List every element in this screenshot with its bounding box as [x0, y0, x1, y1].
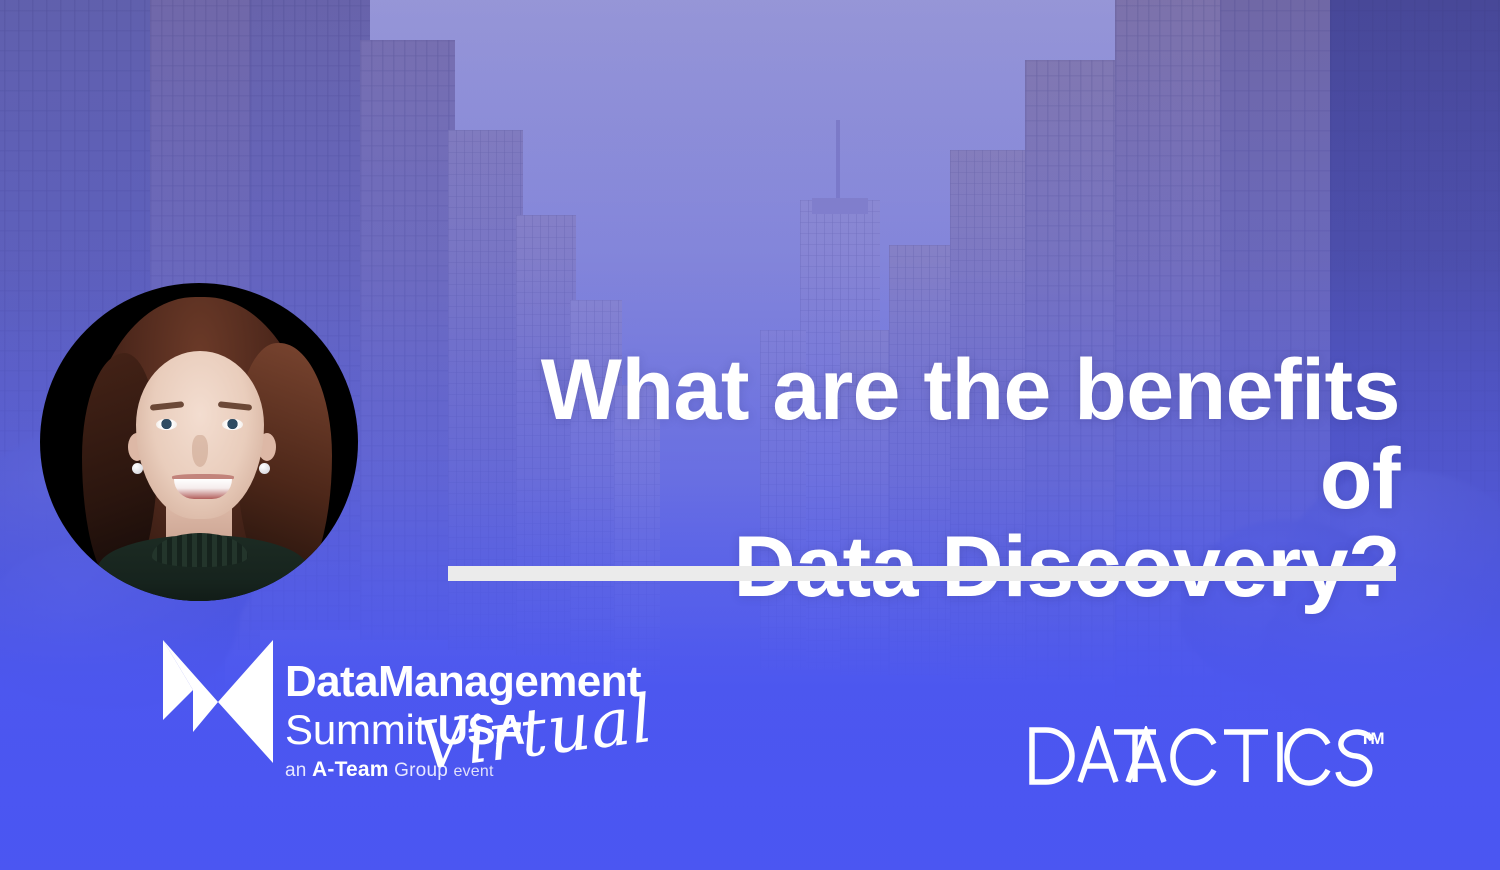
eye-right: [222, 419, 243, 430]
avatar-portrait: [40, 283, 358, 601]
trademark-symbol: TM: [1360, 729, 1385, 748]
nose: [192, 435, 208, 467]
organizer-name: A-Team: [312, 758, 389, 781]
divider: [448, 566, 1396, 581]
headline-line-1: What are the benefits of: [440, 346, 1400, 523]
datactics-logo: TM: [1028, 726, 1388, 788]
foreground-layer: What are the benefits of Data Discovery?…: [0, 0, 1500, 870]
organizer-prefix: an: [285, 760, 312, 781]
avatar: [40, 283, 358, 601]
earring-left: [132, 463, 143, 474]
earring-right: [259, 463, 270, 474]
eye-left: [156, 419, 177, 430]
slide-canvas: What are the benefits of Data Discovery?…: [0, 0, 1500, 870]
a-team-m-mark-icon: [163, 640, 273, 763]
